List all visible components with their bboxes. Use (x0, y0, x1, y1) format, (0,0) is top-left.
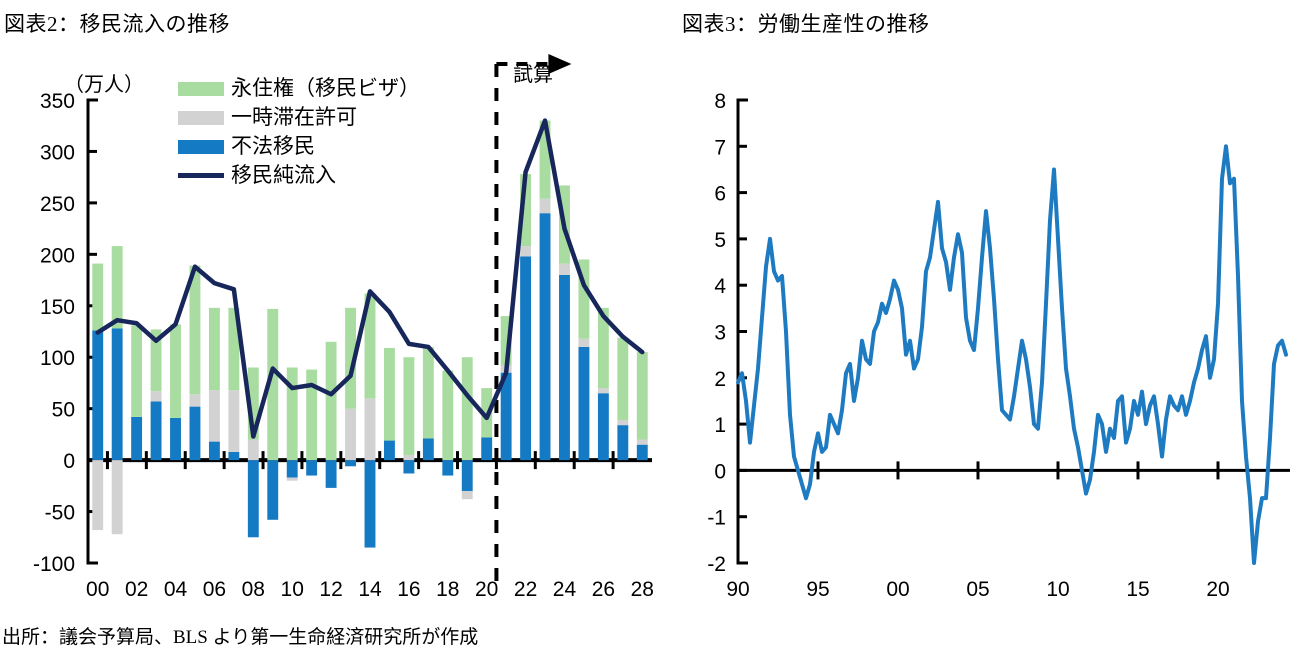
bar-segment (267, 460, 278, 520)
x-tick-label: 16 (397, 578, 420, 601)
bar-segment (598, 388, 609, 393)
bar-segment (481, 437, 492, 460)
x-tick-label: 10 (281, 578, 304, 601)
bar-segment (559, 264, 570, 275)
bar-segment (365, 460, 376, 547)
bar-segment (423, 439, 434, 461)
y-tick-label: -2 (707, 553, 726, 576)
bar-segment (190, 407, 201, 461)
y-tick-label: 3 (714, 322, 726, 345)
y-tick-label: 0 (63, 450, 75, 473)
y-tick-label: 250 (40, 193, 75, 216)
y-tick-label: 8 (714, 90, 726, 113)
bar-segment (442, 460, 453, 475)
y-tick-label: 2 (714, 368, 726, 391)
bar-segment (462, 357, 473, 460)
x-tick-label: 00 (86, 578, 109, 601)
bar-segment (170, 324, 181, 418)
y-tick-label: 100 (40, 347, 75, 370)
bar-segment (151, 401, 162, 460)
bar-segment (287, 478, 298, 481)
y-tick-label: -1 (707, 507, 726, 530)
x-tick-label: 02 (125, 578, 148, 601)
x-tick-label: 95 (806, 578, 829, 601)
bar-segment (442, 371, 453, 461)
bar-segment (326, 460, 337, 488)
x-tick-label: 20 (1206, 578, 1229, 601)
bar-segment (92, 264, 103, 331)
bar-segment (617, 420, 628, 425)
bar-segment (540, 199, 551, 213)
bar-segment (228, 390, 239, 452)
y-tick-label: 150 (40, 296, 75, 319)
bar-segment (112, 328, 123, 460)
figure-3-chart: -2-101234567890950005101520 (660, 0, 1299, 663)
bar-segment (540, 213, 551, 460)
bar-segment (228, 452, 239, 460)
y-tick-label: 50 (52, 399, 75, 422)
x-tick-label: 08 (242, 578, 265, 601)
bar-segment (248, 440, 259, 461)
bar-segment (403, 357, 414, 455)
bar-segment (287, 460, 298, 477)
x-tick-label: 12 (319, 578, 342, 601)
y-tick-label: -100 (33, 553, 75, 576)
bar-segment (306, 460, 317, 475)
bar-segment (345, 409, 356, 460)
forecast-arrow-icon (548, 54, 571, 74)
x-tick-label: 15 (1126, 578, 1149, 601)
x-tick-label: 20 (475, 578, 498, 601)
x-tick-label: 90 (726, 578, 749, 601)
bar-segment (209, 308, 220, 390)
bar-segment (578, 347, 589, 460)
bar-segment (131, 417, 142, 460)
x-tick-label: 05 (966, 578, 989, 601)
bar-segment (345, 460, 356, 466)
x-tick-label: 06 (203, 578, 226, 601)
x-tick-label: 18 (436, 578, 459, 601)
bar-segment (617, 338, 628, 420)
bar-segment (151, 391, 162, 401)
bar-segment (92, 330, 103, 460)
bar-segment (131, 325, 142, 417)
bar-segment (92, 460, 103, 530)
bar-segment (112, 246, 123, 328)
bar-segment (190, 394, 201, 406)
y-tick-label: 300 (40, 141, 75, 164)
source-note: 出所：議会予算局、BLS より第一生命経済研究所が作成 (2, 622, 478, 649)
bar-segment (637, 440, 648, 445)
y-tick-label: 7 (714, 136, 726, 159)
bar-segment (598, 393, 609, 460)
x-tick-label: 14 (358, 578, 382, 601)
bar-segment (209, 442, 220, 461)
y-tick-label: 200 (40, 244, 75, 267)
x-tick-label: 00 (886, 578, 909, 601)
y-tick-label: 5 (714, 229, 726, 252)
bar-segment (520, 246, 531, 256)
y-tick-label: 4 (714, 275, 726, 298)
bar-segment (403, 460, 414, 473)
bar-segment (384, 348, 395, 441)
bar-segment (365, 398, 376, 460)
x-tick-label: 26 (592, 578, 615, 601)
bar-segment (462, 460, 473, 491)
bar-segment (637, 352, 648, 439)
bar-segment (423, 347, 434, 439)
figure-2-panel: 図表2：移民流入の推移 （万人） 永住権（移民ビザ） 一時滞在許可 不法移民 移… (0, 0, 660, 663)
x-tick-label: 10 (1046, 578, 1069, 601)
bar-segment (209, 390, 220, 441)
bar-segment (403, 455, 414, 460)
bar-segment (559, 275, 570, 460)
bar-segment (170, 418, 181, 460)
bar-segment (248, 460, 259, 537)
x-tick-label: 04 (164, 578, 188, 601)
figure-2-chart: -100-50050100150200250300350000204060810… (0, 0, 660, 663)
y-tick-label: 350 (40, 90, 75, 113)
bar-segment (520, 256, 531, 460)
y-tick-label: 6 (714, 183, 726, 206)
bar-segment (326, 342, 337, 460)
bar-segment (384, 441, 395, 461)
bar-segment (617, 425, 628, 460)
y-tick-label: 1 (714, 414, 726, 437)
x-tick-label: 24 (553, 578, 577, 601)
y-tick-label: -50 (45, 502, 75, 525)
figure-3-panel: 図表3：労働生産性の推移 (前年比%) 非農業部門 -2-10123456789… (660, 0, 1299, 663)
nonfarm-productivity-line (738, 146, 1286, 563)
bar-segment (578, 339, 589, 347)
x-tick-label: 28 (631, 578, 654, 601)
bar-segment (112, 460, 123, 534)
y-tick-label: 0 (714, 460, 726, 483)
bar-segment (637, 445, 648, 460)
x-tick-label: 22 (514, 578, 537, 601)
bar-segment (462, 491, 473, 499)
